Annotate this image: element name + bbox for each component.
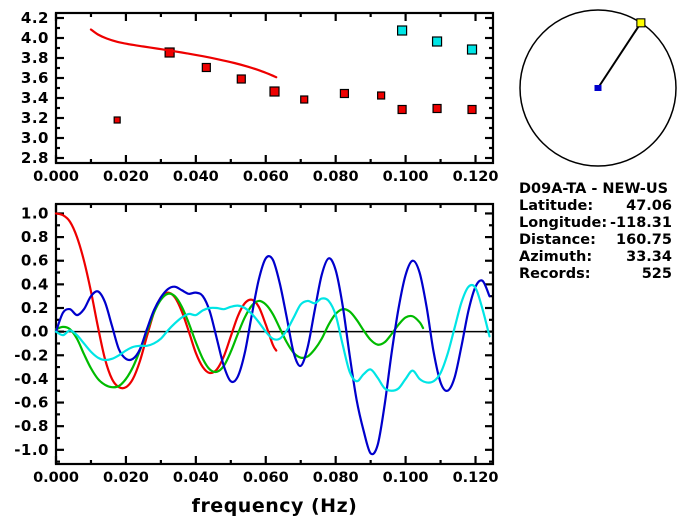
data-point-cyan-squares (398, 26, 407, 35)
x-tick-label: 0.020 (103, 470, 149, 486)
y-tick-label: -0.6 (14, 394, 49, 412)
x-tick-label: 0.060 (243, 470, 289, 486)
y-tick-label: 2.8 (21, 149, 49, 167)
y-tick-label: -0.4 (14, 370, 49, 388)
y-tick-label: 3.8 (21, 49, 49, 67)
x-tick-label: 0.120 (453, 169, 499, 185)
info-value-4: 525 (642, 266, 672, 282)
y-tick-label: -0.8 (14, 417, 49, 435)
x-tick-label: 0.100 (383, 470, 429, 486)
data-point-red-squares (433, 105, 441, 113)
data-point-red-squares (301, 96, 308, 103)
data-point-red-squares (468, 106, 476, 114)
x-axis-label: frequency (Hz) (192, 495, 358, 517)
data-point-red-squares (378, 92, 385, 99)
data-point-cyan-squares (468, 45, 477, 54)
y-tick-label: 0.4 (21, 275, 49, 293)
info-value-0: 47.06 (626, 198, 672, 214)
y-tick-label: -0.2 (14, 346, 49, 364)
y-tick-label: 0.8 (21, 228, 49, 246)
x-tick-label: 0.060 (243, 169, 289, 185)
data-point-red-squares (398, 106, 406, 114)
y-tick-label: 0.2 (21, 299, 49, 317)
figure-root: 0.0000.0200.0400.0600.0800.1000.1202.83.… (0, 0, 698, 519)
cross-correlation-plot-frame (56, 204, 493, 464)
y-tick-label: 0.0 (21, 323, 49, 341)
data-point-cyan-squares (433, 37, 442, 46)
y-tick-label: 4.2 (21, 9, 49, 27)
x-tick-label: 0.040 (173, 470, 219, 486)
dispersion-plot-data (91, 26, 477, 123)
x-tick-label: 0.080 (313, 169, 359, 185)
y-tick-label: 3.4 (21, 89, 49, 107)
info-label-2: Distance: (519, 232, 596, 248)
plot-page: 0.0000.0200.0400.0600.0800.1000.1202.83.… (0, 0, 698, 519)
x-tick-label: 0.000 (33, 470, 79, 486)
y-tick-label: 4.0 (21, 29, 49, 47)
info-value-1: -118.31 (610, 215, 672, 231)
azimuth-diagram (520, 10, 676, 166)
info-panel: D09A-TA - NEW-USLatitude:47.06Longitude:… (519, 181, 672, 282)
y-tick-label: 3.6 (21, 69, 49, 87)
data-point-red-squares (202, 64, 210, 72)
data-point-red-squares (114, 117, 120, 123)
data-point-red-squares (270, 87, 279, 96)
x-tick-label: 0.100 (383, 169, 429, 185)
y-tick-label: -1.0 (14, 441, 49, 459)
data-point-red-squares (340, 90, 348, 98)
info-label-4: Records: (519, 266, 591, 282)
info-value-2: 160.75 (616, 232, 672, 248)
x-tick-label: 0.000 (33, 169, 79, 185)
info-label-1: Longitude: (519, 215, 607, 231)
azimuth-ray (598, 23, 641, 88)
info-value-3: 33.34 (626, 249, 672, 265)
model-curve-red-model-curve (91, 30, 276, 78)
data-point-red-squares (237, 75, 245, 83)
x-tick-label: 0.080 (313, 470, 359, 486)
y-tick-label: 0.6 (21, 252, 49, 270)
info-label-0: Latitude: (519, 198, 593, 214)
cross-correlation-plot-data (56, 213, 490, 454)
info-label-3: Azimuth: (519, 249, 592, 265)
y-tick-label: 3.2 (21, 109, 49, 127)
x-tick-label: 0.040 (173, 169, 219, 185)
y-tick-label: 1.0 (21, 204, 49, 222)
info-title: D09A-TA - NEW-US (519, 181, 668, 197)
dispersion-plot: 0.0000.0200.0400.0600.0800.1000.1202.83.… (21, 9, 499, 185)
remote-station-marker (637, 19, 645, 27)
x-tick-label: 0.120 (453, 470, 499, 486)
y-tick-label: 3.0 (21, 129, 49, 147)
cross-correlation-plot: 0.0000.0200.0400.0600.0800.1000.120-1.0-… (14, 204, 498, 486)
center-station-marker (595, 85, 602, 91)
x-tick-label: 0.020 (103, 169, 149, 185)
